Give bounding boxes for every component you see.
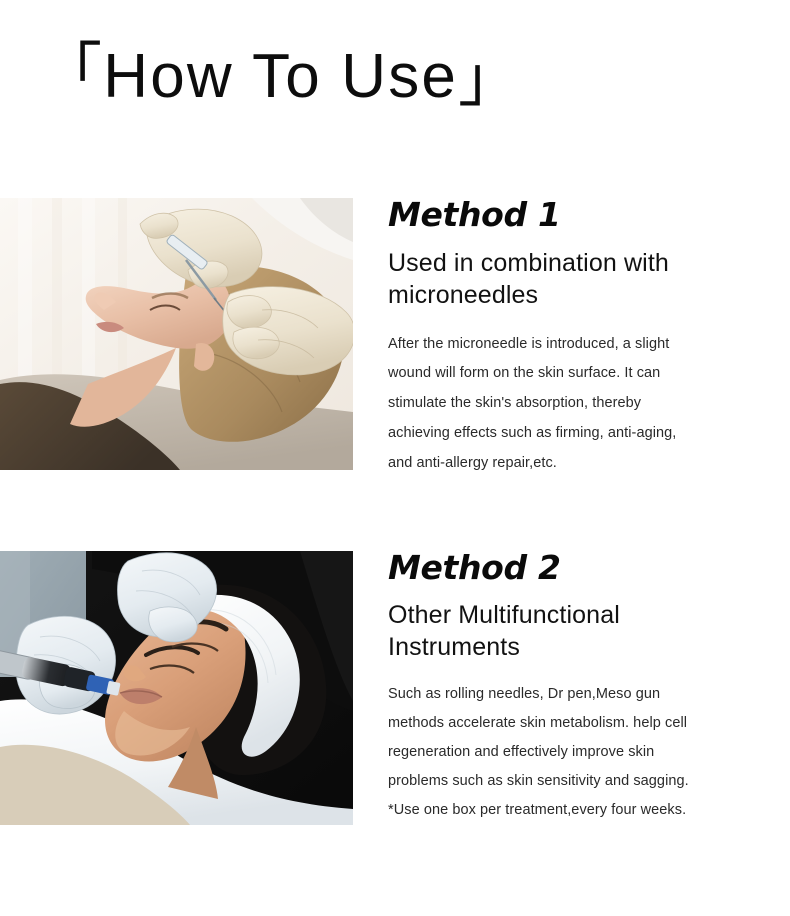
method-2-body-line-5: *Use one box per treatment,every four we… (388, 796, 758, 825)
method-2-label: Method 2 (388, 551, 768, 586)
method-2-body-line-1: Such as rolling needles, Dr pen,Meso gun (388, 680, 758, 709)
microneedle-injection-photo (0, 198, 353, 470)
page-title-text: How To Use (103, 46, 458, 108)
corner-bracket-open-icon: 「 (40, 44, 103, 103)
method-1-body-line-5: and anti-allergy repair,etc. (388, 449, 758, 479)
dermapen-treatment-photo (0, 551, 353, 825)
method-1-subtitle-line-1: Used in combination (388, 249, 617, 277)
method-1-body-line-1: After the microneedle is introduced, a s… (388, 330, 758, 360)
method-2-body-line-3: regeneration and effectively improve ski… (388, 738, 758, 767)
method-2-body: Such as rolling needles, Dr pen,Meso gun… (388, 680, 758, 825)
method-2-body-line-4: problems such as skin sensitivity and sa… (388, 767, 758, 796)
corner-bracket-close-icon: 」 (458, 51, 521, 110)
page-title: 「How To Use」 (40, 46, 521, 108)
method-2-copy: Method 2 Other Multifunctional Instrumen… (388, 551, 768, 825)
method-1-label: Method 1 (388, 198, 768, 233)
method-2-subtitle-line-1: Other Multifunctional (388, 601, 620, 629)
method-1-body: After the microneedle is introduced, a s… (388, 330, 758, 479)
method-2-subtitle: Other Multifunctional Instruments (388, 599, 728, 664)
method-1-body-line-4: achieving effects such as firming, anti-… (388, 419, 758, 449)
method-1-copy: Method 1 Used in combination with micron… (388, 198, 768, 478)
method-2-body-line-2: methods accelerate skin metabolism. help… (388, 709, 758, 738)
method-2-subtitle-line-2: Instruments (388, 633, 520, 661)
how-to-use-page: 「How To Use」 (0, 0, 790, 916)
method-1-body-line-2: wound will form on the skin surface. It … (388, 359, 758, 389)
method-1-body-line-3: stimulate the skin's absorption, thereby (388, 389, 758, 419)
method-1-subtitle: Used in combination with microneedles (388, 247, 728, 312)
